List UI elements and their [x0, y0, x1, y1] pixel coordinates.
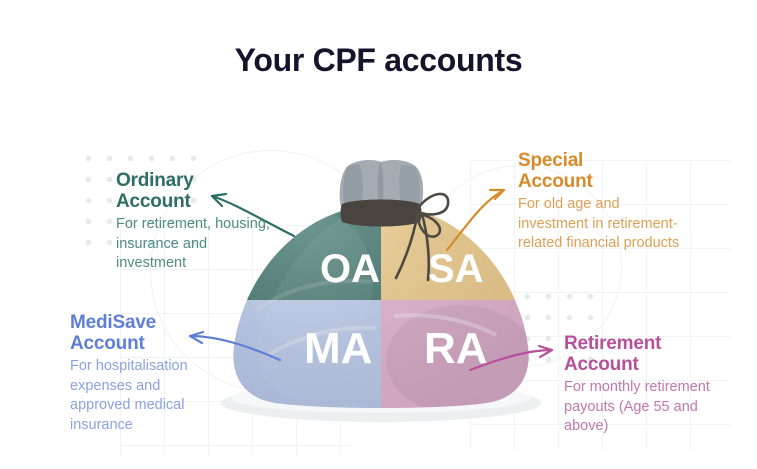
callout-title-retirement-account: Retirement Account — [564, 333, 724, 375]
callout-special-account: Special Account For old age and investme… — [518, 150, 680, 254]
callout-ordinary-account: Ordinary Account For retirement, housing… — [116, 170, 274, 274]
callout-title-line2: Account — [518, 171, 593, 192]
label-ra: RA — [424, 324, 488, 373]
callout-title-line1: Retirement — [564, 333, 661, 354]
label-oa: OA — [320, 247, 380, 291]
callout-description-medisave-account: For hospitalisation expenses and approve… — [70, 357, 222, 435]
label-ma: MA — [304, 324, 372, 373]
callout-title-medisave-account: MediSave Account — [70, 312, 222, 354]
callout-description-special-account: For old age and investment in retirement… — [518, 195, 680, 254]
label-sa: SA — [428, 247, 484, 291]
infographic-canvas: Your CPF accounts — [0, 0, 757, 469]
page-title: Your CPF accounts — [0, 42, 757, 79]
callout-title-line1: Special — [518, 150, 583, 171]
callout-title-line1: Ordinary — [116, 170, 194, 191]
callout-title-line2: Account — [116, 191, 191, 212]
callout-title-special-account: Special Account — [518, 150, 680, 192]
callout-title-ordinary-account: Ordinary Account — [116, 170, 274, 212]
callout-retirement-account: Retirement Account For monthly retiremen… — [564, 333, 724, 437]
callout-medisave-account: MediSave Account For hospitalisation exp… — [70, 312, 222, 435]
callout-title-line2: Account — [70, 333, 145, 354]
callout-title-line2: Account — [564, 354, 639, 375]
callout-description-retirement-account: For monthly retirement payouts (Age 55 a… — [564, 378, 724, 437]
callout-description-ordinary-account: For retirement, housing, insurance and i… — [116, 215, 274, 274]
callout-title-line1: MediSave — [70, 312, 156, 333]
bag-tie-band — [341, 200, 422, 227]
